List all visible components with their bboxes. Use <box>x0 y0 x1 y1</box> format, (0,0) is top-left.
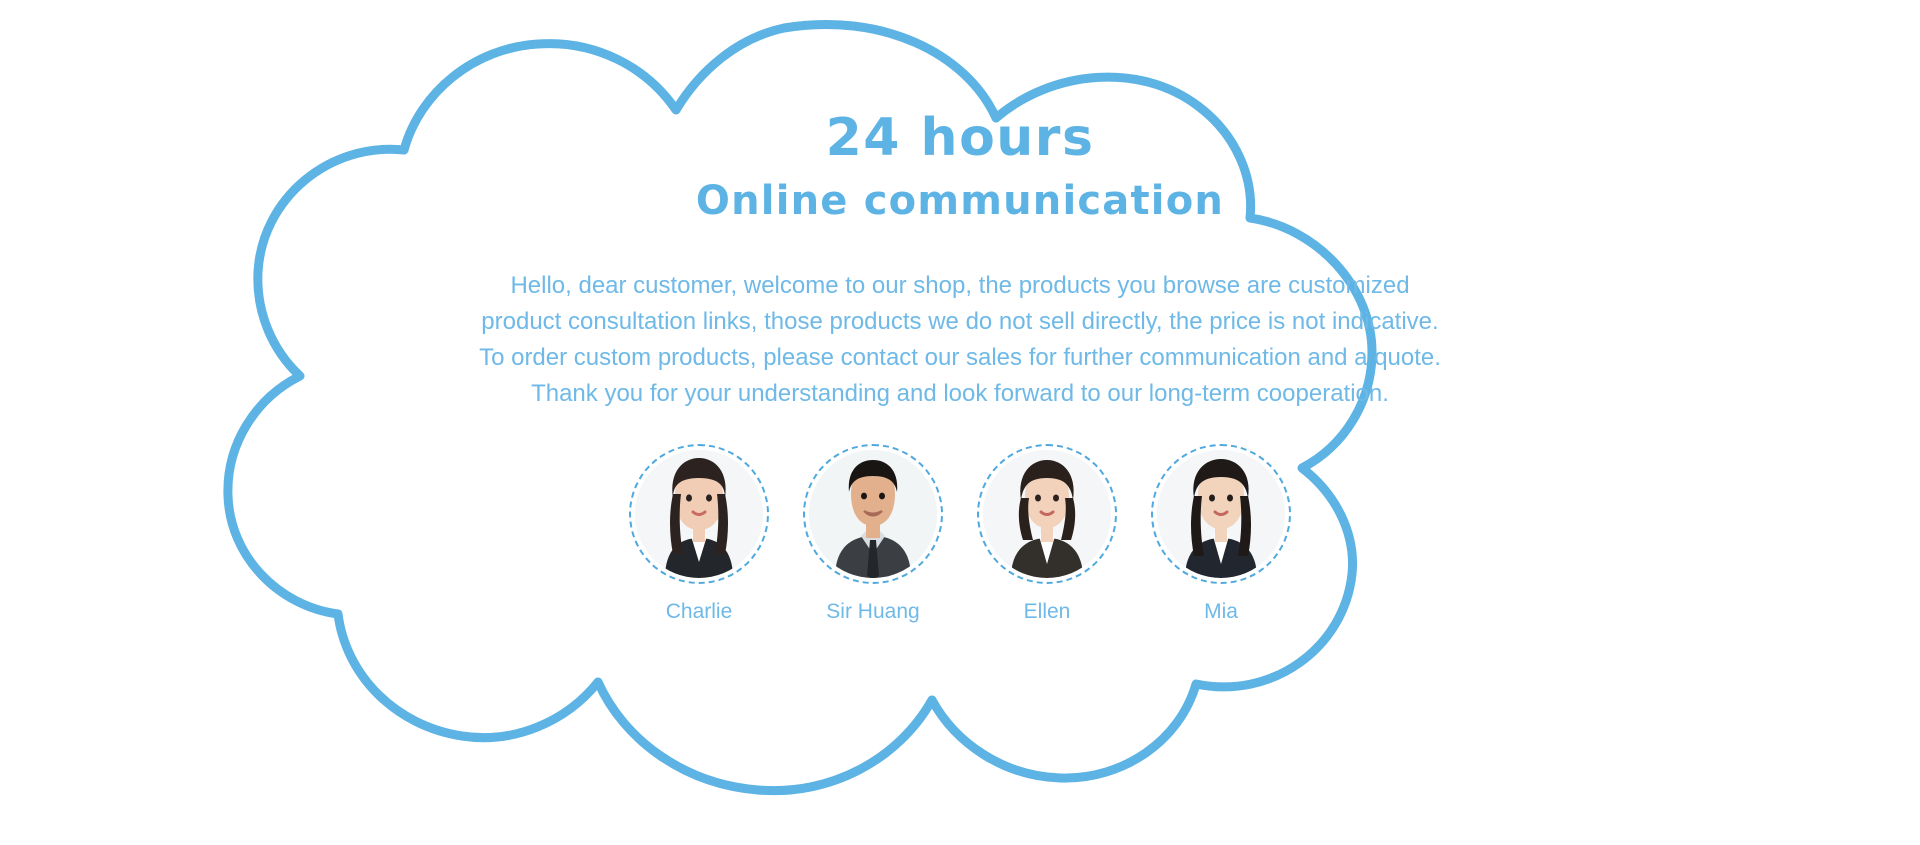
contact-name: Ellen <box>1024 600 1071 624</box>
page-subtitle: Online communication <box>696 181 1224 221</box>
promo-banner: 24 hours Online communication Hello, dea… <box>0 0 1920 845</box>
avatar <box>635 450 763 578</box>
contact-name: Charlie <box>666 600 733 624</box>
body-line-1: Hello, dear customer, welcome to our sho… <box>395 268 1525 304</box>
avatar <box>809 450 937 578</box>
avatar <box>983 450 1111 578</box>
avatar <box>1157 450 1285 578</box>
contact-name: Sir Huang <box>826 600 919 624</box>
page-title: 24 hours <box>696 112 1224 164</box>
contact-name: Mia <box>1204 600 1238 624</box>
body-line-4: Thank you for your understanding and loo… <box>395 376 1525 412</box>
contact-item-charlie[interactable]: Charlie <box>612 444 786 624</box>
contact-item-ellen[interactable]: Ellen <box>960 444 1134 624</box>
contact-item-mia[interactable]: Mia <box>1134 444 1308 624</box>
body-line-2: product consultation links, those produc… <box>395 304 1525 340</box>
contact-item-sir-huang[interactable]: Sir Huang <box>786 444 960 624</box>
heading-block: 24 hours Online communication <box>696 112 1224 221</box>
avatar-dashed-ring[interactable] <box>803 444 943 584</box>
body-line-3: To order custom products, please contact… <box>395 340 1525 376</box>
sales-contact-list: Charlie <box>612 444 1308 624</box>
avatar-dashed-ring[interactable] <box>977 444 1117 584</box>
body-paragraph: Hello, dear customer, welcome to our sho… <box>395 268 1525 412</box>
avatar-dashed-ring[interactable] <box>629 444 769 584</box>
avatar-dashed-ring[interactable] <box>1151 444 1291 584</box>
